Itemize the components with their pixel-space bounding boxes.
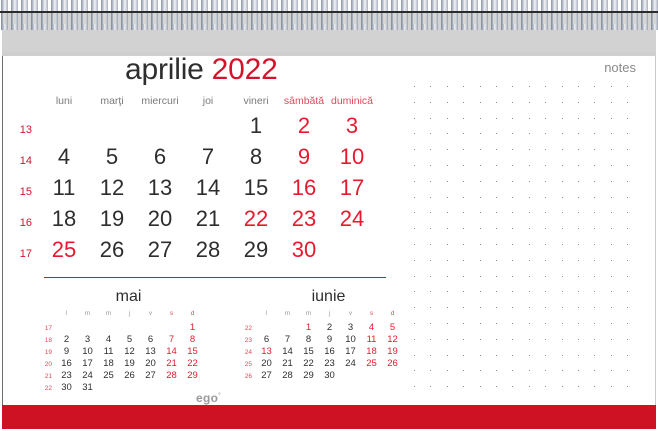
spiral-loop <box>281 0 288 30</box>
mini-day-cell[interactable]: 5 <box>119 334 140 345</box>
notes-dot <box>414 260 415 261</box>
mini-day-cell[interactable]: 24 <box>77 370 98 381</box>
mini-day-cell[interactable]: 28 <box>277 370 298 381</box>
spiral-loop <box>251 0 258 30</box>
notes-dot <box>480 102 481 103</box>
spiral-loop <box>51 0 58 30</box>
notes-dot <box>578 244 579 245</box>
mini-day-cell[interactable]: 18 <box>361 346 382 357</box>
spiral-loop <box>111 0 118 30</box>
notes-dot <box>447 276 448 277</box>
notes-dot <box>529 323 530 324</box>
day-cell[interactable]: 20 <box>136 203 184 234</box>
mini-day-cell[interactable]: 8 <box>298 334 319 345</box>
spiral-loop <box>641 0 648 30</box>
notes-dot <box>627 339 628 340</box>
notes-dot <box>414 386 415 387</box>
spiral-loop <box>461 0 468 30</box>
notes-dot <box>496 386 497 387</box>
notes-dot <box>578 370 579 371</box>
day-cell[interactable]: 1 <box>232 110 280 141</box>
day-cell[interactable]: 16 <box>280 172 328 203</box>
mini-iunie-week-row: 2212345 <box>238 322 403 334</box>
mini-mai-weekday-header-1: m <box>77 310 98 317</box>
notes-dot <box>496 260 497 261</box>
mini-day-cell[interactable]: 26 <box>382 358 403 369</box>
notes-dot <box>578 165 579 166</box>
notes-dot <box>578 339 579 340</box>
notes-dot <box>611 323 612 324</box>
notes-dot <box>480 386 481 387</box>
notes-dot <box>430 276 431 277</box>
mini-day-cell[interactable]: 24 <box>340 358 361 369</box>
mini-day-cell[interactable]: 2 <box>56 334 77 345</box>
notes-dot <box>578 149 579 150</box>
day-cell[interactable]: 7 <box>184 141 232 172</box>
notes-dot <box>447 339 448 340</box>
main-weekday-header-1: marţi <box>88 95 136 107</box>
main-weekday-header-6: duminică <box>328 95 376 107</box>
notes-dot <box>562 133 563 134</box>
notes-dot <box>545 181 546 182</box>
spiral-loop <box>311 0 318 30</box>
spiral-loop <box>321 0 328 30</box>
notes-dot <box>447 323 448 324</box>
spiral-loop <box>151 0 158 30</box>
notes-dot <box>545 133 546 134</box>
notes-dot <box>414 291 415 292</box>
spiral-loop <box>601 0 608 30</box>
spiral-loop <box>231 0 238 30</box>
notes-dot <box>496 212 497 213</box>
mini-day-cell[interactable]: 29 <box>182 370 203 381</box>
notes-dot <box>447 118 448 119</box>
notes-dot <box>529 355 530 356</box>
notes-dot <box>627 197 628 198</box>
day-cell[interactable]: 27 <box>136 234 184 265</box>
mini-day-cell[interactable]: 13 <box>256 346 277 357</box>
notes-dot <box>611 339 612 340</box>
day-cell[interactable]: 14 <box>184 172 232 203</box>
mini-day-cell[interactable]: 6 <box>256 334 277 345</box>
notes-dot <box>611 260 612 261</box>
notes-dot <box>578 133 579 134</box>
week-number: 15 <box>0 186 40 198</box>
mini-day-cell[interactable]: 8 <box>182 334 203 345</box>
notes-dot <box>447 212 448 213</box>
notes-dot <box>611 197 612 198</box>
day-cell[interactable]: 8 <box>232 141 280 172</box>
day-cell[interactable]: 21 <box>184 203 232 234</box>
notes-dot <box>480 276 481 277</box>
mini-day-cell[interactable]: 3 <box>77 334 98 345</box>
notes-dot <box>627 118 628 119</box>
notes-dot <box>578 197 579 198</box>
notes-dot <box>545 244 546 245</box>
mini-mai-week-row: 171 <box>38 322 203 334</box>
notes-dot <box>611 149 612 150</box>
mini-day-cell[interactable]: 14 <box>277 346 298 357</box>
day-cell[interactable]: 6 <box>136 141 184 172</box>
notes-dot <box>562 118 563 119</box>
notes-dot <box>562 370 563 371</box>
mini-day-cell[interactable]: 23 <box>319 358 340 369</box>
mini-day-cell[interactable]: 7 <box>277 334 298 345</box>
day-cell[interactable]: 19 <box>88 203 136 234</box>
day-cell[interactable]: 3 <box>328 110 376 141</box>
notes-dot <box>611 386 612 387</box>
spiral-loop <box>101 0 108 30</box>
bottom-red-bar <box>2 405 656 429</box>
spiral-loop <box>631 0 638 30</box>
mini-day-cell[interactable]: 4 <box>98 334 119 345</box>
main-week-row: 1511121314151617 <box>0 172 400 203</box>
notes-dot <box>594 355 595 356</box>
mini-iunie-weekday-header-3: j <box>319 310 340 317</box>
mini-mai-weekday-header-5: s <box>161 310 182 317</box>
notes-dot <box>562 260 563 261</box>
notes-dot <box>627 307 628 308</box>
notes-dot <box>463 355 464 356</box>
day-cell[interactable]: 30 <box>280 234 328 265</box>
notes-dot <box>545 197 546 198</box>
notes-dot <box>430 165 431 166</box>
notes-dot <box>414 212 415 213</box>
notes-dot <box>545 291 546 292</box>
mini-day-cell[interactable]: 31 <box>77 382 98 393</box>
mini-day-cell[interactable]: 10 <box>77 346 98 357</box>
mini-mai-weekday-header-0: l <box>56 310 77 317</box>
notes-dot <box>627 260 628 261</box>
notes-dot <box>414 307 415 308</box>
mini-day-cell[interactable]: 1 <box>298 322 319 333</box>
notes-dot <box>463 102 464 103</box>
mini-day-cell[interactable]: 22 <box>182 358 203 369</box>
notes-dot <box>594 276 595 277</box>
notes-dot <box>562 212 563 213</box>
notes-dot <box>414 323 415 324</box>
notes-dot <box>578 181 579 182</box>
mini-day-cell[interactable]: 6 <box>140 334 161 345</box>
day-cell[interactable]: 26 <box>88 234 136 265</box>
notes-dot <box>496 165 497 166</box>
spiral-loop <box>171 0 178 30</box>
section-divider <box>44 277 386 278</box>
notes-dot <box>430 339 431 340</box>
notes-dot <box>545 86 546 87</box>
day-cell[interactable]: 11 <box>40 172 88 203</box>
mini-day-cell[interactable]: 26 <box>119 370 140 381</box>
spiral-loop <box>401 0 408 30</box>
day-cell[interactable]: 13 <box>136 172 184 203</box>
notes-dot <box>430 355 431 356</box>
mini-week-number: 20 <box>38 361 56 368</box>
day-cell[interactable]: 24 <box>328 203 376 234</box>
notes-dot <box>480 86 481 87</box>
notes-dot-grid[interactable] <box>414 86 644 401</box>
notes-dot <box>594 149 595 150</box>
spiral-loop <box>31 0 38 30</box>
notes-dot <box>529 386 530 387</box>
notes-dot <box>611 181 612 182</box>
notes-dot <box>594 260 595 261</box>
notes-dot <box>480 260 481 261</box>
notes-dot <box>578 307 579 308</box>
mini-day-cell[interactable]: 7 <box>161 334 182 345</box>
mini-day-cell[interactable]: 28 <box>161 370 182 381</box>
spiral-loop <box>441 0 448 30</box>
notes-dot <box>496 323 497 324</box>
mini-iunie-weekday-header-2: m <box>298 310 319 317</box>
spiral-binding <box>0 0 658 30</box>
notes-dot <box>529 212 530 213</box>
notes-dot <box>447 86 448 87</box>
notes-dot <box>578 102 579 103</box>
main-weekday-header-4: vineri <box>232 95 280 107</box>
notes-dot <box>562 323 563 324</box>
spiral-loop <box>41 0 48 30</box>
spiral-loop <box>431 0 438 30</box>
mini-mai-weekday-header: lmmjvsd <box>38 310 203 322</box>
main-weekday-header-0: luni <box>40 95 88 107</box>
mini-day-cell[interactable]: 21 <box>161 358 182 369</box>
notes-dot <box>512 260 513 261</box>
mini-day-cell[interactable]: 9 <box>319 334 340 345</box>
mini-day-cell[interactable]: 12 <box>382 334 403 345</box>
notes-dot <box>430 370 431 371</box>
notes-dot <box>562 386 563 387</box>
title-month: aprilie <box>125 53 204 86</box>
mini-iunie-weekday-header-4: v <box>340 310 361 317</box>
mini-day-cell[interactable]: 4 <box>361 322 382 333</box>
notes-dot <box>594 339 595 340</box>
mini-calendar-iunie: iunie lmmjvsd 22123452367891011122413141… <box>238 288 403 382</box>
mini-day-cell[interactable]: 19 <box>119 358 140 369</box>
main-week-row: 1445678910 <box>0 141 400 172</box>
calendar-page: aprilie2022 notes lunimarţimiercurijoivi… <box>0 0 658 431</box>
notes-dot <box>594 370 595 371</box>
mini-week-number: 19 <box>38 349 56 356</box>
mini-day-cell[interactable]: 15 <box>298 346 319 357</box>
notes-dot <box>463 197 464 198</box>
spiral-loop <box>371 0 378 30</box>
notes-dot <box>611 370 612 371</box>
notes-dot <box>512 370 513 371</box>
notes-dot <box>545 339 546 340</box>
day-cell[interactable]: 5 <box>88 141 136 172</box>
mini-day-cell[interactable]: 25 <box>361 358 382 369</box>
notes-dot <box>414 118 415 119</box>
notes-dot <box>529 181 530 182</box>
week-number: 17 <box>0 248 40 260</box>
mini-day-cell[interactable]: 21 <box>277 358 298 369</box>
day-cell[interactable]: 23 <box>280 203 328 234</box>
spiral-loop <box>291 0 298 30</box>
notes-dot <box>578 118 579 119</box>
notes-dot <box>447 386 448 387</box>
notes-dot <box>627 86 628 87</box>
notes-dot <box>480 355 481 356</box>
mini-week-number: 25 <box>238 361 256 368</box>
ego-logo-text: ego <box>196 391 218 405</box>
mini-day-cell[interactable]: 9 <box>56 346 77 357</box>
spiral-loop <box>621 0 628 30</box>
notes-dot <box>480 197 481 198</box>
notes-dot <box>496 133 497 134</box>
mini-day-cell[interactable]: 27 <box>256 370 277 381</box>
notes-dot <box>480 149 481 150</box>
notes-dot <box>447 244 448 245</box>
spiral-rail <box>0 11 658 13</box>
notes-dot <box>611 102 612 103</box>
notes-dot <box>512 386 513 387</box>
mini-day-cell[interactable]: 29 <box>298 370 319 381</box>
spiral-loop <box>161 0 168 30</box>
notes-dot <box>627 165 628 166</box>
mini-day-cell[interactable]: 19 <box>382 346 403 357</box>
mini-day-cell[interactable]: 13 <box>140 346 161 357</box>
notes-dot <box>496 307 497 308</box>
notes-dot <box>463 339 464 340</box>
mini-day-cell[interactable]: 11 <box>361 334 382 345</box>
notes-dot <box>414 228 415 229</box>
notes-dot <box>512 86 513 87</box>
notes-dot <box>562 197 563 198</box>
notes-dot <box>611 276 612 277</box>
spiral-loop <box>61 0 68 30</box>
notes-dot <box>496 339 497 340</box>
notes-dot <box>512 355 513 356</box>
day-cell[interactable]: 2 <box>280 110 328 141</box>
header-band-shadow <box>2 52 656 56</box>
notes-dot <box>529 339 530 340</box>
notes-dot <box>480 339 481 340</box>
notes-dot <box>430 212 431 213</box>
mini-day-cell[interactable]: 17 <box>340 346 361 357</box>
spiral-loop <box>271 0 278 30</box>
notes-dot <box>562 291 563 292</box>
day-cell[interactable]: 28 <box>184 234 232 265</box>
spiral-loop <box>301 0 308 30</box>
mini-day-cell[interactable]: 11 <box>98 346 119 357</box>
page-title: aprilie2022 <box>125 53 278 87</box>
day-cell[interactable]: 25 <box>40 234 88 265</box>
spiral-loop <box>241 0 248 30</box>
mini-day-cell[interactable]: 12 <box>119 346 140 357</box>
mini-day-cell[interactable]: 15 <box>182 346 203 357</box>
mini-day-cell[interactable]: 2 <box>319 322 340 333</box>
spiral-loop <box>201 0 208 30</box>
notes-dot <box>463 181 464 182</box>
mini-day-cell[interactable]: 27 <box>140 370 161 381</box>
notes-dot <box>463 228 464 229</box>
notes-dot <box>627 323 628 324</box>
mini-day-cell[interactable]: 18 <box>98 358 119 369</box>
notes-dot <box>529 370 530 371</box>
notes-dot <box>430 307 431 308</box>
mini-day-cell[interactable]: 20 <box>256 358 277 369</box>
day-cell[interactable]: 22 <box>232 203 280 234</box>
notes-dot <box>430 181 431 182</box>
notes-dot <box>578 323 579 324</box>
mini-day-cell[interactable]: 5 <box>382 322 403 333</box>
day-cell[interactable]: 12 <box>88 172 136 203</box>
mini-day-cell[interactable]: 1 <box>182 322 203 333</box>
notes-dot <box>594 228 595 229</box>
mini-day-cell[interactable]: 16 <box>56 358 77 369</box>
spiral-loop <box>521 0 528 30</box>
day-cell[interactable]: 29 <box>232 234 280 265</box>
mini-day-cell[interactable]: 17 <box>77 358 98 369</box>
spiral-loop <box>451 0 458 30</box>
mini-week-number: 26 <box>238 373 256 380</box>
notes-dot <box>512 133 513 134</box>
notes-dot <box>594 291 595 292</box>
mini-day-cell[interactable]: 30 <box>56 382 77 393</box>
notes-dot <box>611 355 612 356</box>
spiral-loop <box>341 0 348 30</box>
day-cell[interactable]: 9 <box>280 141 328 172</box>
mini-week-number: 17 <box>38 325 56 332</box>
notes-dot <box>545 323 546 324</box>
notes-dot <box>594 102 595 103</box>
mini-week-number: 18 <box>38 337 56 344</box>
mini-day-cell[interactable]: 16 <box>319 346 340 357</box>
day-cell[interactable]: 10 <box>328 141 376 172</box>
notes-dot <box>545 149 546 150</box>
mini-iunie-week-row: 2413141516171819 <box>238 346 403 358</box>
day-cell[interactable]: 15 <box>232 172 280 203</box>
notes-dot <box>480 244 481 245</box>
notes-dot <box>430 197 431 198</box>
notes-dot <box>430 118 431 119</box>
notes-dot <box>611 212 612 213</box>
day-cell[interactable]: 4 <box>40 141 88 172</box>
mini-day-cell[interactable]: 25 <box>98 370 119 381</box>
mini-calendar-mai: mai lmmjvsd 1711823456781991011121314152… <box>38 288 203 394</box>
mini-week-number: 22 <box>238 325 256 332</box>
notes-dot <box>529 291 530 292</box>
notes-dot <box>414 181 415 182</box>
day-cell[interactable]: 17 <box>328 172 376 203</box>
mini-day-cell[interactable]: 3 <box>340 322 361 333</box>
mini-day-cell[interactable]: 14 <box>161 346 182 357</box>
notes-dot <box>447 260 448 261</box>
notes-dot <box>430 149 431 150</box>
notes-dot <box>447 355 448 356</box>
notes-dot <box>529 165 530 166</box>
notes-dot <box>512 244 513 245</box>
mini-day-cell[interactable]: 20 <box>140 358 161 369</box>
notes-dot <box>512 165 513 166</box>
notes-dot <box>480 118 481 119</box>
notes-dot <box>594 165 595 166</box>
mini-mai-weekday-header-4: v <box>140 310 161 317</box>
spiral-loop <box>391 0 398 30</box>
mini-day-cell[interactable]: 10 <box>340 334 361 345</box>
ego-logo-mark: ° <box>218 393 221 399</box>
mini-day-cell[interactable]: 23 <box>56 370 77 381</box>
notes-dot <box>562 307 563 308</box>
notes-dot <box>545 307 546 308</box>
main-week-row: 1618192021222324 <box>0 203 400 234</box>
notes-dot <box>414 149 415 150</box>
mini-day-cell[interactable]: 22 <box>298 358 319 369</box>
day-cell[interactable]: 18 <box>40 203 88 234</box>
notes-dot <box>414 276 415 277</box>
notes-dot <box>430 86 431 87</box>
mini-day-cell[interactable]: 30 <box>319 370 340 381</box>
